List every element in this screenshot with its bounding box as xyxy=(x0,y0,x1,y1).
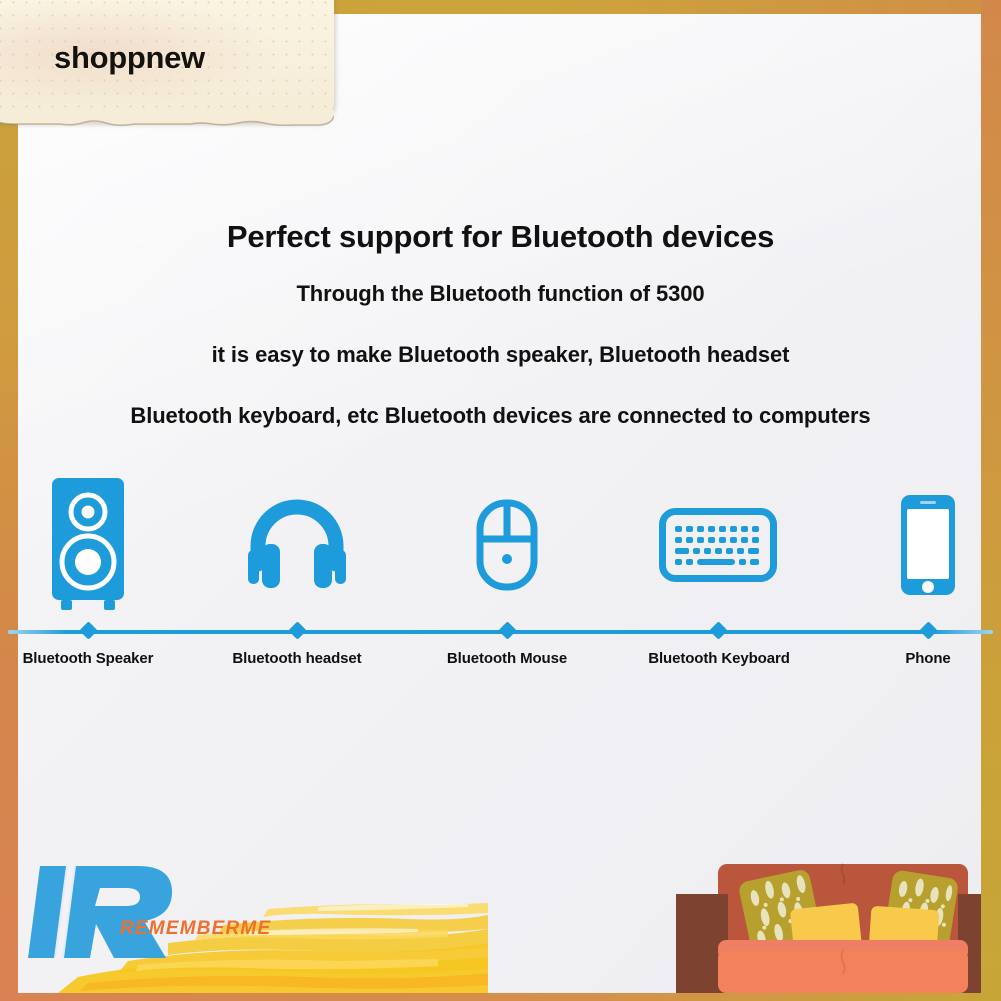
bluetooth-speaker-icon xyxy=(49,476,127,614)
subtitle-line-2: it is easy to make Bluetooth speaker, Bl… xyxy=(0,342,1001,368)
sofa-illustration xyxy=(676,850,981,993)
device-label-headset: Bluetooth headset xyxy=(207,650,387,667)
logo-wordmark: REMEMBERME xyxy=(120,918,271,940)
device-label-speaker: Bluetooth Speaker xyxy=(0,650,179,667)
frame-border-bottom xyxy=(0,993,1001,1001)
device-timeline xyxy=(0,628,1001,636)
brand-logo: REMEMBERME xyxy=(22,862,292,972)
banner-torn-edge xyxy=(0,110,334,132)
device-item-keyboard xyxy=(638,470,798,620)
device-label-mouse: Bluetooth Mouse xyxy=(417,650,597,667)
sofa-svg xyxy=(676,850,981,993)
device-label-keyboard: Bluetooth Keyboard xyxy=(628,650,810,667)
bluetooth-mouse-icon xyxy=(476,499,538,591)
device-item-phone xyxy=(848,470,1001,620)
device-item-speaker xyxy=(8,470,168,620)
phone-icon xyxy=(899,493,957,597)
shop-name: shoppnew xyxy=(54,40,205,76)
subtitle-line-3: Bluetooth keyboard, etc Bluetooth device… xyxy=(0,403,1001,429)
page-title: Perfect support for Bluetooth devices xyxy=(0,219,1001,255)
kr-logo-mark xyxy=(22,862,222,962)
device-icon-row xyxy=(0,470,1001,630)
bluetooth-keyboard-icon xyxy=(659,508,777,582)
device-item-mouse xyxy=(427,470,587,620)
device-label-phone: Phone xyxy=(848,650,1001,667)
device-item-headset xyxy=(217,470,377,620)
product-infographic: shoppnew Perfect support for Bluetooth d… xyxy=(0,0,1001,1001)
subtitle-line-1: Through the Bluetooth function of 5300 xyxy=(0,281,1001,307)
bluetooth-headset-icon xyxy=(242,498,352,593)
device-label-row: Bluetooth Speaker Bluetooth headset Blue… xyxy=(0,650,1001,682)
